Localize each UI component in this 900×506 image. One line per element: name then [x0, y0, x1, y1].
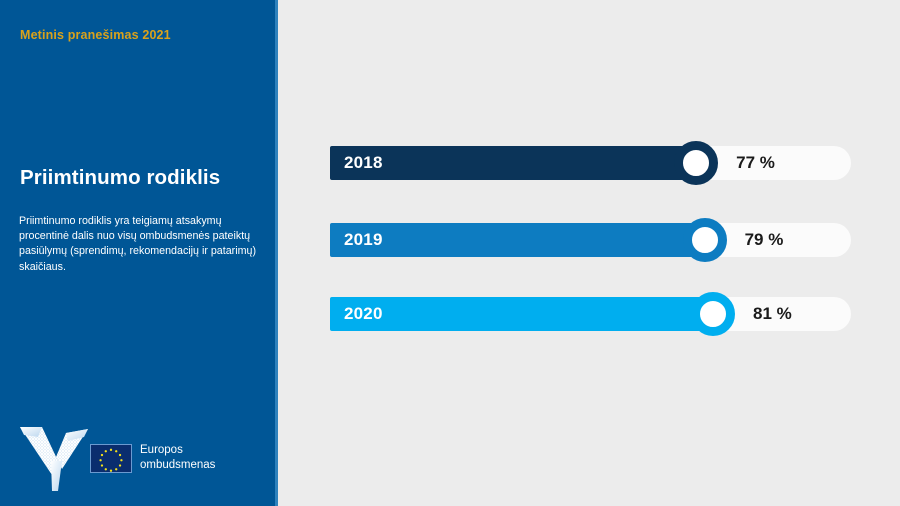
bar-year-label: 2019 [344, 223, 383, 257]
bar-fill [330, 223, 705, 257]
bar-knob [674, 141, 718, 185]
bar-fill [330, 297, 713, 331]
slide-canvas: Metinis pranešimas 2021 Priimtinumo rodi… [0, 0, 900, 506]
bar-knob [691, 292, 735, 336]
bar-year-label: 2018 [344, 146, 383, 180]
bar-year-label: 2020 [344, 297, 383, 331]
bar-row: 2020 81 % [330, 297, 851, 331]
bar-value-label: 77 % [736, 146, 775, 180]
bar-row: 2019 79 % [330, 223, 851, 257]
bar-fill [330, 146, 696, 180]
bar-knob [683, 218, 727, 262]
bar-value-label: 81 % [753, 297, 792, 331]
bar-row: 2018 77 % [330, 146, 851, 180]
acceptance-rate-chart: 2018 77 % 2019 79 % 2020 81 % [0, 0, 900, 506]
bar-value-label: 79 % [745, 223, 784, 257]
